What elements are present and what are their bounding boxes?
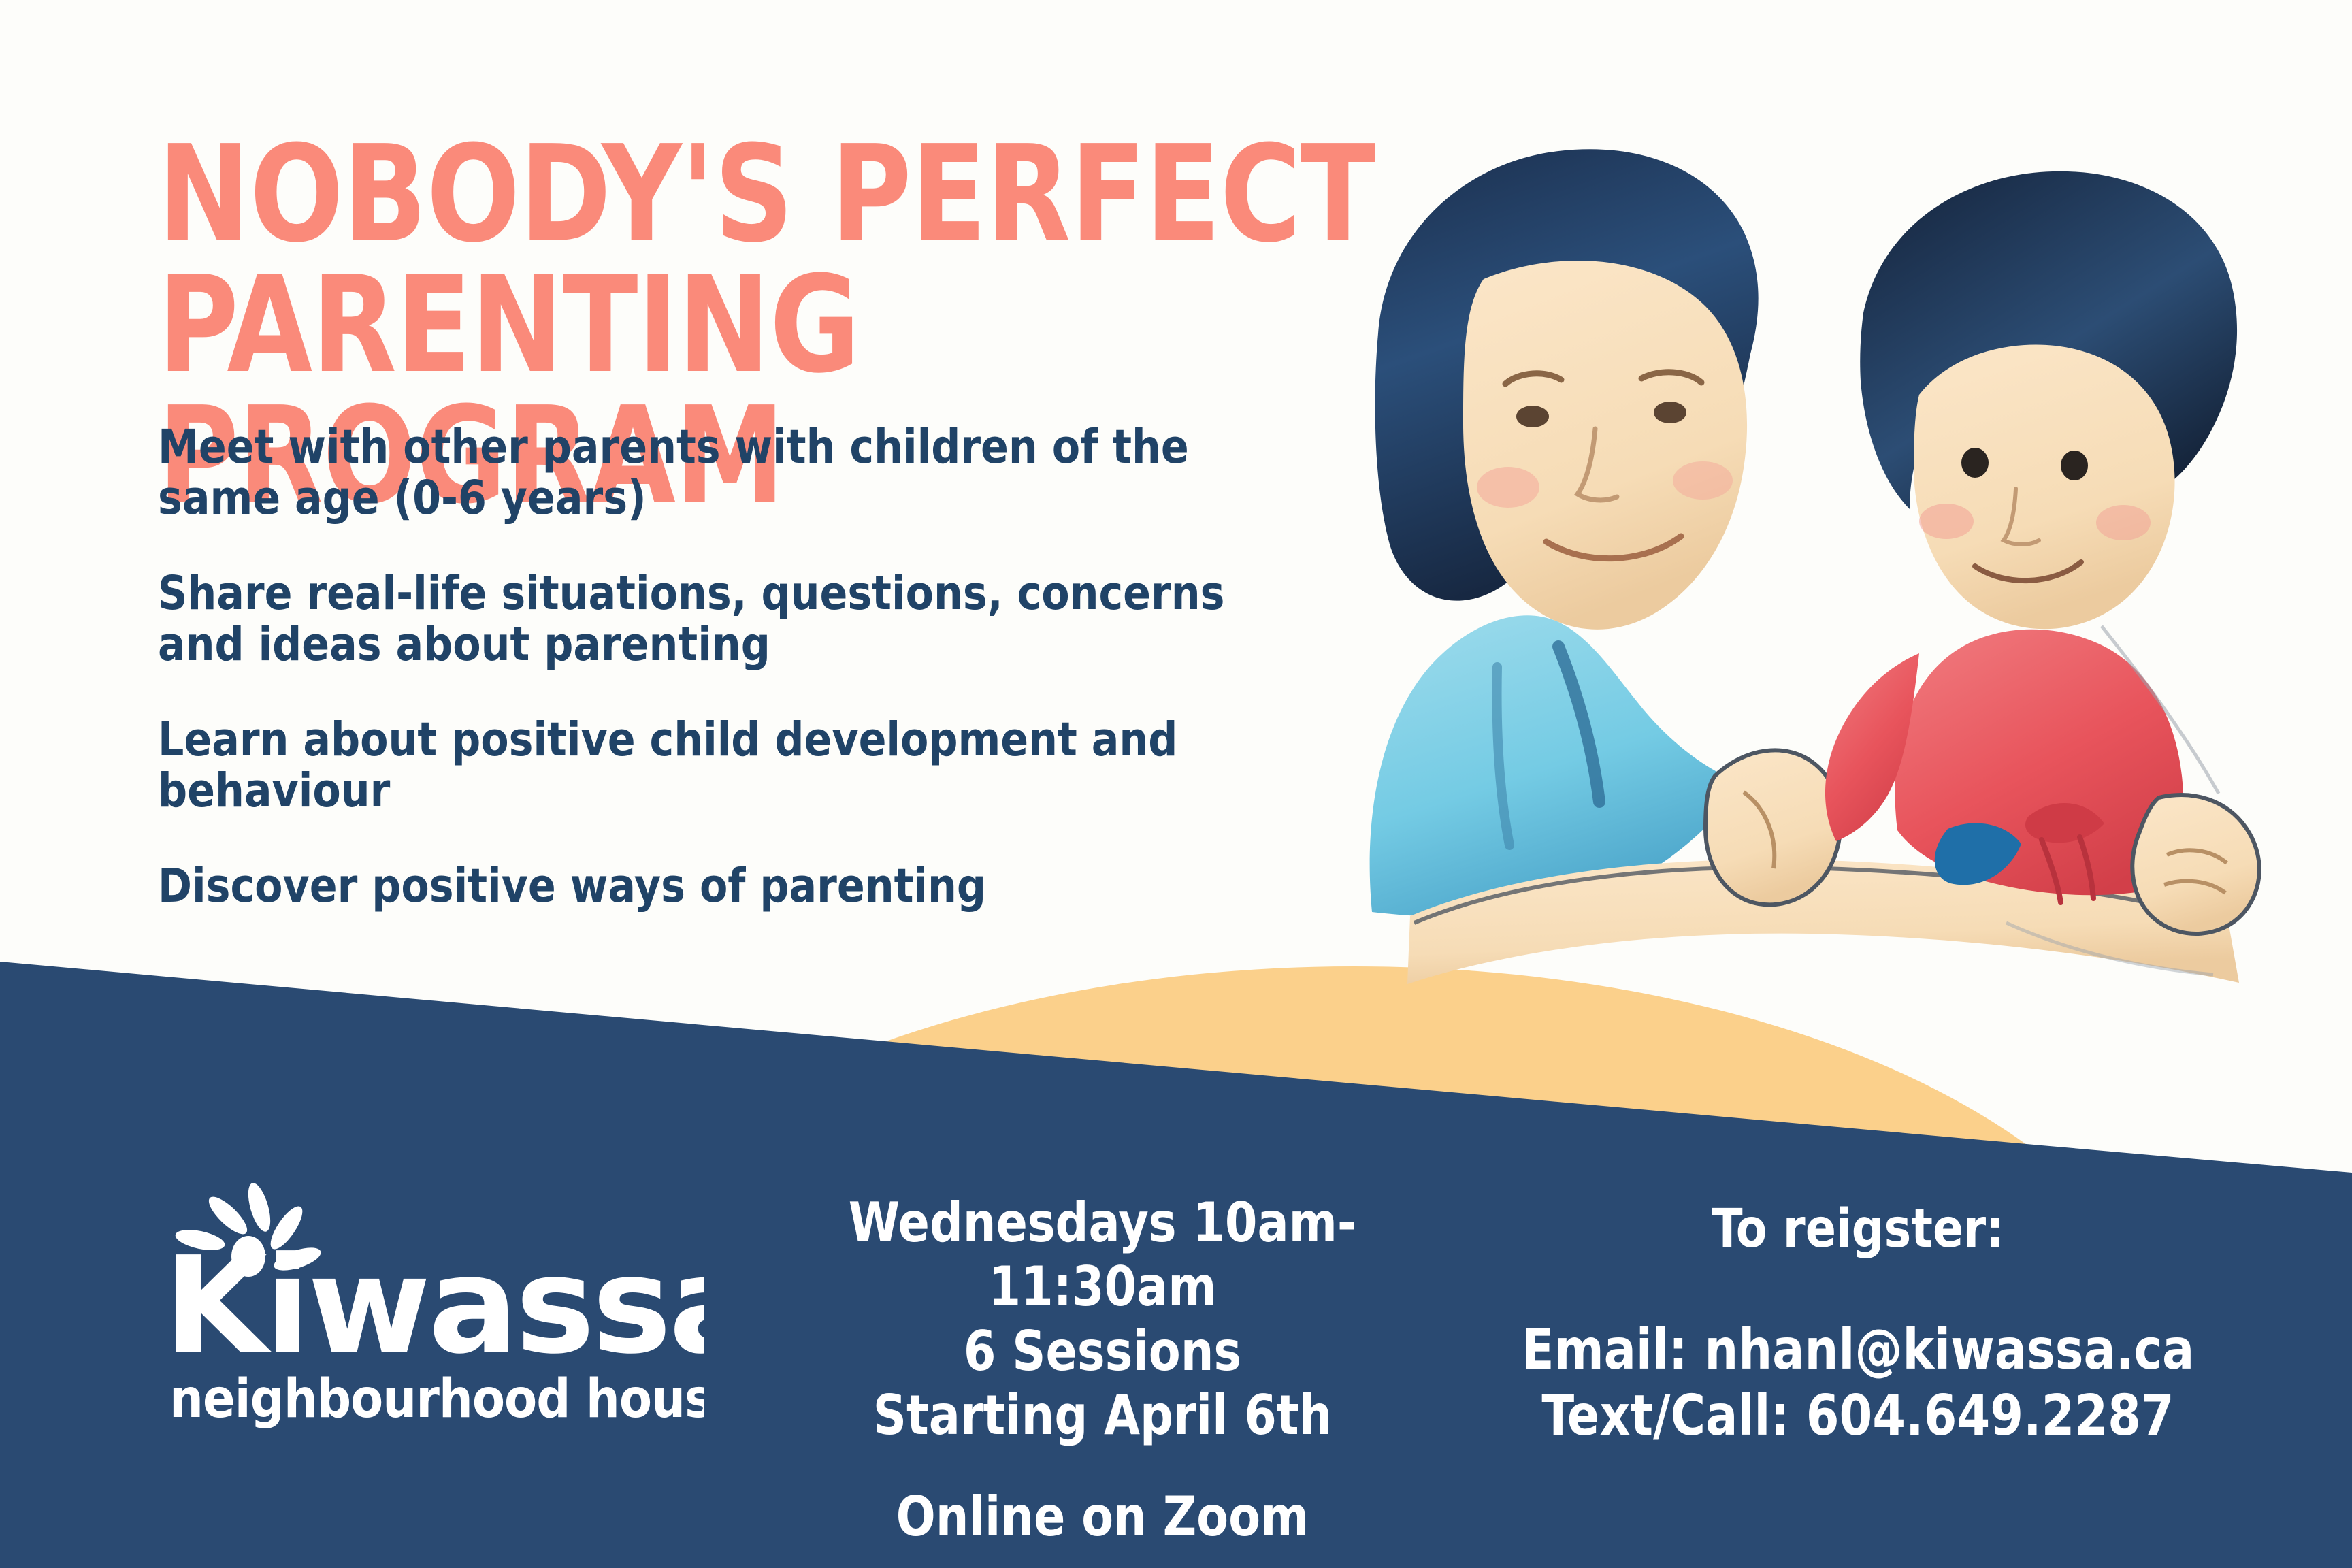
kiwassa-logo-svg: Kiwassa neighbourhood house (146, 1177, 704, 1463)
benefits-list: Meet with other parents with children of… (158, 422, 1315, 912)
schedule-block: Wednesdays 10am-11:30am 6 Sessions Start… (753, 1191, 1452, 1549)
list-item: Discover positive ways of parenting (158, 861, 1280, 912)
schedule-spacer (753, 1448, 1452, 1485)
schedule-line-time: Wednesdays 10am-11:30am (849, 1191, 1357, 1318)
register-spacer (1503, 1260, 2214, 1318)
register-heading: To reigster: (1503, 1198, 2214, 1260)
schedule-line-sessions: 6 Sessions (964, 1320, 1241, 1383)
poster-canvas: NOBODY'S PERFECT PARENTING PROGRAM Meet … (0, 0, 2352, 1568)
kiwassa-logo: Kiwassa neighbourhood house (146, 1177, 704, 1463)
sunburst-petal-top (244, 1181, 274, 1234)
list-item: Meet with other parents with children of… (158, 422, 1280, 523)
schedule-line-platform: Online on Zoom (896, 1485, 1309, 1548)
logo-tagline: neighbourhood house (169, 1369, 704, 1430)
register-email[interactable]: Email: nhanl@kiwassa.ca (1503, 1318, 2214, 1384)
list-item: Learn about positive child development a… (158, 715, 1280, 816)
schedule-line-start-date: Starting April 6th (873, 1384, 1333, 1447)
register-phone[interactable]: Text/Call: 604.649.2287 (1503, 1384, 2214, 1450)
list-item: Share real-life situations, questions, c… (158, 568, 1280, 670)
registration-block: To reigster: Email: nhanl@kiwassa.ca Tex… (1503, 1198, 2214, 1450)
logo-wordmark: Kiwassa (164, 1228, 704, 1384)
